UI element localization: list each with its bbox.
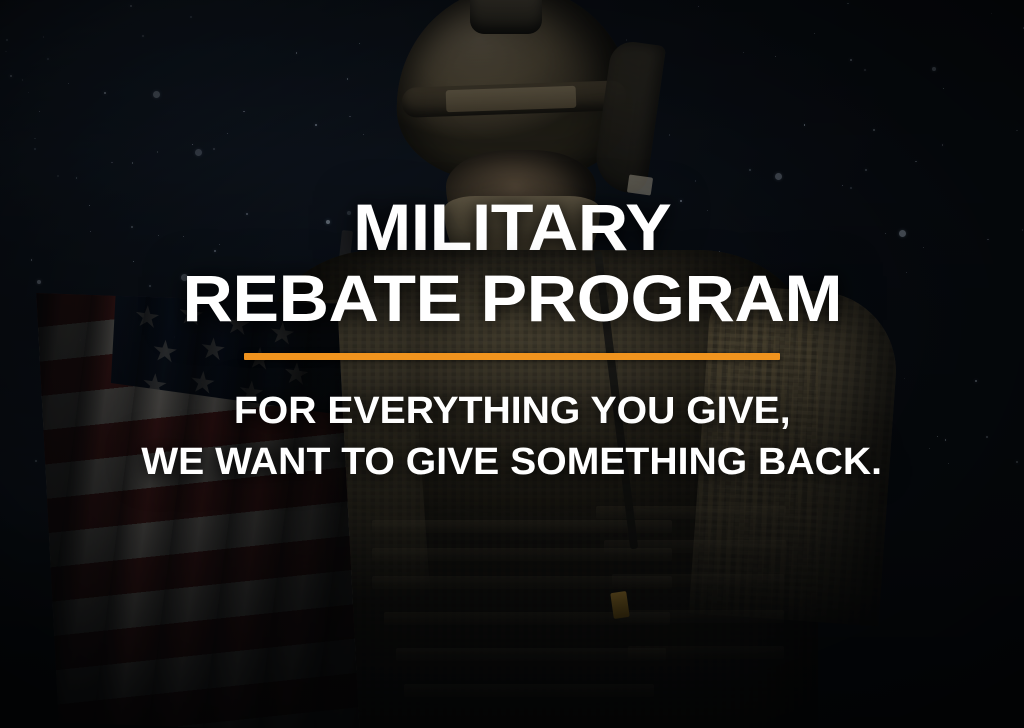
headline-line-2: REBATE PROGRAM [182, 267, 842, 330]
military-rebate-banner: ★★★★★★★★★★★ MILITARY REBATE PROGRAM FOR … [0, 0, 1024, 728]
subheadline-line-2: WE WANT TO GIVE SOMETHING BACK. [142, 440, 883, 484]
headline-line-1: MILITARY [353, 196, 671, 259]
banner-content: MILITARY REBATE PROGRAM FOR EVERYTHING Y… [0, 0, 1024, 728]
subheadline-line-1: FOR EVERYTHING YOU GIVE, [234, 389, 791, 433]
orange-divider [244, 353, 780, 360]
